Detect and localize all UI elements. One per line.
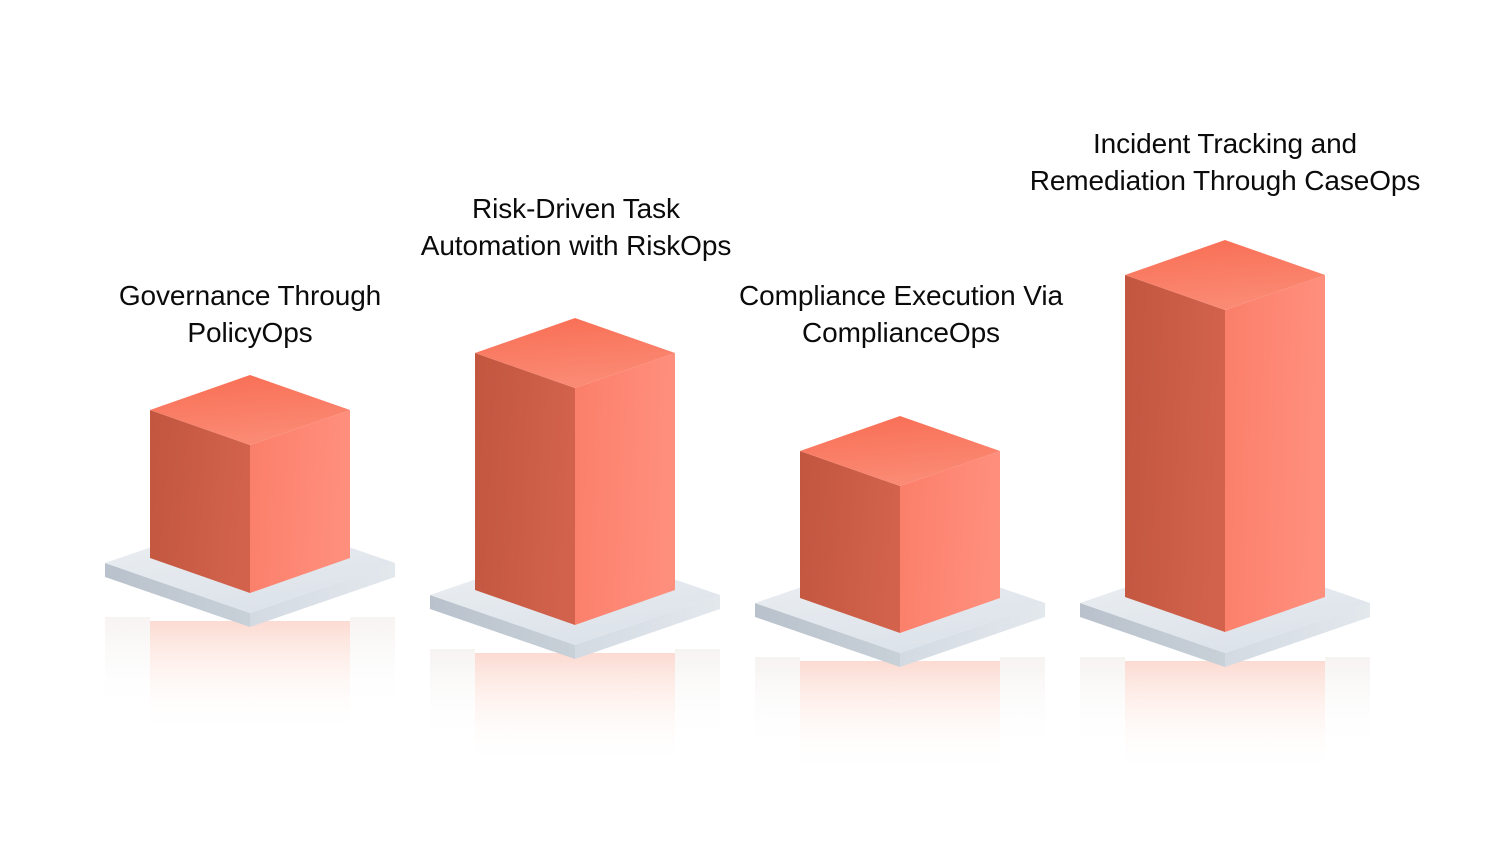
bar-reflection [150, 621, 350, 733]
block-left-face [1125, 275, 1225, 632]
block-left-face [475, 353, 575, 625]
isometric-bar-3[interactable] [755, 416, 1045, 773]
bar-label-governance-through-policyops: Governance Through PolicyOps [80, 277, 420, 351]
bar-label-risk-driven-task-automation-with-riskops: Risk-Driven Task Automation with RiskOps [400, 190, 752, 264]
bar-label-compliance-execution-via-complianceops: Compliance Execution Via ComplianceOps [712, 277, 1090, 351]
block-right-face [575, 353, 675, 625]
bar-reflection [800, 661, 1000, 773]
isometric-bar-1[interactable] [105, 375, 395, 733]
isometric-bar-4[interactable] [1080, 240, 1370, 773]
bar-reflection [1125, 661, 1325, 773]
block-right-face [1225, 275, 1325, 632]
plinth-reflection-right [350, 617, 395, 713]
plinth-reflection-left [105, 617, 150, 713]
bar-label-incident-tracking-and-remediation-through-caseops: Incident Tracking and Remediation Throug… [1000, 125, 1450, 199]
plinth-reflection-right [675, 649, 720, 745]
plinth-reflection-right [1325, 657, 1370, 753]
infographic-canvas: Governance Through PolicyOps Risk-Driven… [0, 0, 1500, 844]
bar-reflection [475, 653, 675, 765]
plinth-reflection-left [1080, 657, 1125, 753]
plinth-reflection-left [430, 649, 475, 745]
plinth-reflection-left [755, 657, 800, 753]
isometric-bar-2[interactable] [430, 318, 720, 765]
plinth-reflection-right [1000, 657, 1045, 753]
